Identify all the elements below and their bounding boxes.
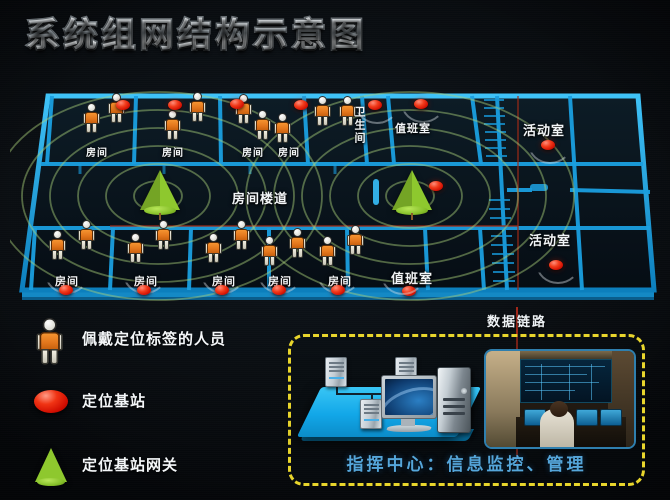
person-leg-right [323, 116, 328, 126]
person-leg-left [350, 245, 355, 255]
person-head-icon [351, 225, 360, 234]
room-label-activity-bottom: 活动室 [529, 230, 571, 249]
person-head-icon [293, 228, 302, 237]
photo-desk-monitor [576, 409, 598, 426]
person-tagged [290, 228, 305, 258]
person-leg-left [342, 116, 347, 126]
person-tagged [348, 225, 363, 255]
person-body [40, 332, 60, 351]
room-label-duty-top: 值班室 [395, 120, 431, 136]
person-leg-left [292, 248, 297, 258]
person-leg-left [264, 256, 269, 266]
person-tagged [262, 236, 277, 266]
person-head-icon [159, 220, 168, 229]
pc-tower-icon [437, 367, 471, 433]
gateway-stem [159, 213, 161, 220]
command-center-panel: 指挥中心：信息监控、管理 [288, 334, 645, 486]
gateway-base [37, 478, 65, 486]
person-head-icon [258, 110, 267, 119]
base-station [168, 100, 182, 110]
person-head-icon [168, 110, 177, 119]
person-leg-right [283, 133, 288, 143]
base-station [116, 100, 130, 110]
person-leg-left [158, 240, 163, 250]
gateway-right [392, 170, 432, 218]
gateway-art [35, 448, 67, 488]
gateway-cone-icon [30, 446, 72, 490]
person-head-icon [278, 113, 287, 122]
person-leg-right [214, 253, 219, 263]
person-tagged [315, 96, 330, 126]
base-station [215, 285, 229, 295]
person-head-icon [343, 96, 352, 105]
person-leg-right [198, 112, 203, 122]
person-head-icon [131, 233, 140, 242]
person-tagged [128, 233, 143, 263]
floor-plan: 房间 房间 房间 [10, 78, 660, 318]
person-leg-left [208, 253, 213, 263]
monitor-neck [401, 418, 415, 426]
person-leg-right [263, 130, 268, 140]
base-station [541, 140, 555, 150]
page-title: 系统组网结构示意图 [26, 8, 368, 56]
person-leg-right [328, 256, 333, 266]
photo-wall-left [486, 351, 520, 449]
floor-plan-entities: 房间 房间 房间 [10, 78, 660, 318]
person-tagged [50, 230, 65, 260]
person-head-icon [323, 236, 332, 245]
person-leg-right [50, 349, 58, 365]
person-head-icon [209, 233, 218, 242]
base-station [402, 286, 416, 296]
photo-operator-head [550, 401, 568, 417]
base-station [368, 100, 382, 110]
person-leg-left [236, 240, 241, 250]
base-station-art [34, 390, 68, 413]
person-leg-left [192, 112, 197, 122]
room-label-duty-bottom: 值班室 [391, 268, 433, 287]
gateway-cone-shape [35, 448, 67, 482]
control-room-photo [484, 349, 636, 449]
base-station [294, 100, 308, 110]
corridor-label: 房间楼道 [232, 188, 288, 207]
server-unit [360, 399, 382, 429]
person-leg-left [111, 113, 116, 123]
base-station [272, 285, 286, 295]
person-leg-right [242, 240, 247, 250]
monitor-screen [385, 379, 433, 415]
person-leg-right [244, 114, 249, 124]
person-tagged [156, 220, 171, 250]
person-leg-right [298, 248, 303, 258]
person-tagged [320, 236, 335, 266]
person-leg-right [270, 256, 275, 266]
person-head-icon [193, 92, 202, 101]
monitor-icon [381, 375, 437, 419]
person-leg-left [41, 349, 49, 365]
gateway-stem [411, 213, 413, 220]
person-tagged [234, 220, 249, 250]
server-unit [325, 357, 347, 387]
person-leg-left [322, 256, 327, 266]
room-label: 房间 [86, 144, 108, 159]
person-tagged [190, 92, 205, 122]
person-leg-left [86, 123, 91, 133]
person-tagged [165, 110, 180, 140]
person-tagged [84, 103, 99, 133]
gateway-cone-shade [140, 170, 160, 210]
person-leg-right [87, 240, 92, 250]
person-leg-left [257, 130, 262, 140]
person-leg-left [167, 130, 172, 140]
person-leg-left [238, 114, 243, 124]
legend-label-base-station: 定位基站 [82, 390, 146, 411]
person-icon-art [38, 318, 61, 365]
person-tagged [255, 110, 270, 140]
base-station [414, 99, 428, 109]
person-leg-left [81, 240, 86, 250]
data-link-label: 数据链路 [487, 311, 547, 330]
server-rack-and-pc-icon [303, 349, 478, 449]
person-head-icon [87, 103, 96, 112]
legend-label-person: 佩戴定位标签的人员 [82, 328, 226, 349]
room-label: 房间 [242, 144, 264, 159]
photo-video-wall [520, 359, 612, 403]
person-leg-right [164, 240, 169, 250]
photo-desk-monitor [600, 409, 622, 426]
person-head-icon [82, 220, 91, 229]
person-leg-right [117, 113, 122, 123]
person-tagged [275, 113, 290, 143]
room-label-activity-top: 活动室 [523, 120, 565, 139]
person-head-icon [318, 96, 327, 105]
person-leg-right [58, 250, 63, 260]
base-station [549, 260, 563, 270]
base-station-icon [30, 384, 72, 428]
base-station [59, 285, 73, 295]
room-label-restroom: 卫生间 [351, 106, 367, 145]
command-center-caption: 指挥中心：信息监控、管理 [291, 450, 642, 475]
person-leg-left [52, 250, 57, 260]
base-station [230, 99, 244, 109]
person-leg-right [92, 123, 97, 133]
base-station [137, 285, 151, 295]
gateway-left [140, 170, 180, 218]
person-head-icon [265, 236, 274, 245]
person-leg-right [136, 253, 141, 263]
person-head-icon [53, 230, 62, 239]
gateway-cone-shade [392, 170, 412, 210]
person-head-icon [43, 318, 57, 332]
person-tagged [79, 220, 94, 250]
room-label: 房间 [278, 144, 300, 159]
diagram-canvas: 系统组网结构示意图 系统组网结构示意图 [0, 0, 670, 500]
person-head-icon [237, 220, 246, 229]
base-station [429, 181, 443, 191]
base-station [331, 285, 345, 295]
monitor-foot [385, 425, 432, 432]
person-leg-right [356, 245, 361, 255]
person-leg-left [130, 253, 135, 263]
person-with-tag-icon [30, 318, 72, 362]
room-label: 房间 [162, 144, 184, 159]
person-leg-right [173, 130, 178, 140]
person-leg-left [277, 133, 282, 143]
person-tagged [206, 233, 221, 263]
person-leg-left [317, 116, 322, 126]
legend-label-gateway: 定位基站网关 [82, 454, 178, 475]
